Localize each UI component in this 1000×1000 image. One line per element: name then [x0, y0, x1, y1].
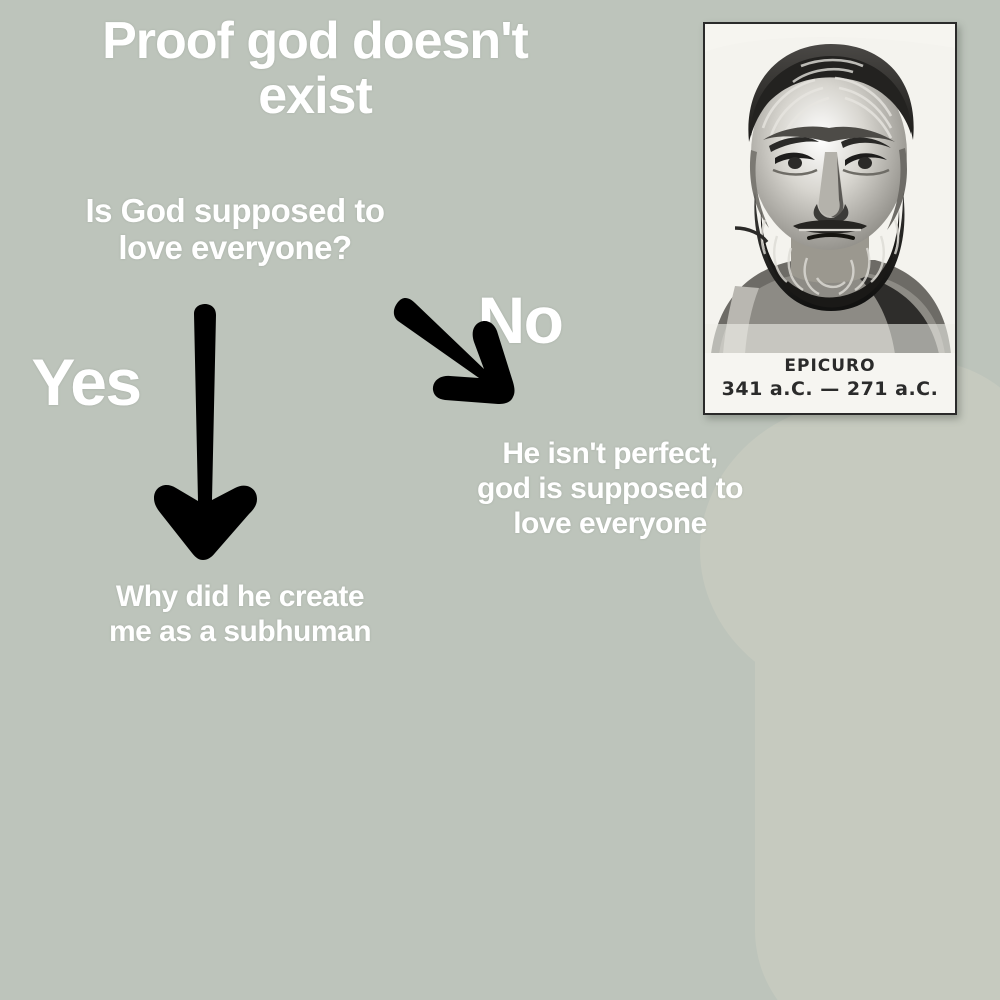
epicurus-card: EPICURO 341 a.C. — 271 a.C.: [703, 22, 957, 415]
epicurus-name: EPICURO: [705, 356, 955, 376]
answer-text-no: He isn't perfect, god is supposed to lov…: [400, 437, 820, 541]
background-blob-3: [905, 430, 1000, 990]
branch-label-yes: Yes: [0, 348, 176, 417]
meme-title: Proof god doesn't exist: [20, 14, 610, 124]
answer-text-yes: Why did he create me as a subhuman: [20, 580, 460, 650]
branch-label-no: No: [455, 286, 585, 355]
epicurus-caption: EPICURO 341 a.C. — 271 a.C.: [705, 353, 955, 413]
meme-canvas: Proof god doesn't exist Is God supposed …: [0, 0, 1000, 1000]
arrow-down-icon: [145, 300, 275, 570]
epicurus-portrait-image: [705, 24, 955, 354]
question-text: Is God supposed to love everyone?: [20, 193, 450, 267]
epicurus-dates: 341 a.C. — 271 a.C.: [705, 378, 955, 400]
